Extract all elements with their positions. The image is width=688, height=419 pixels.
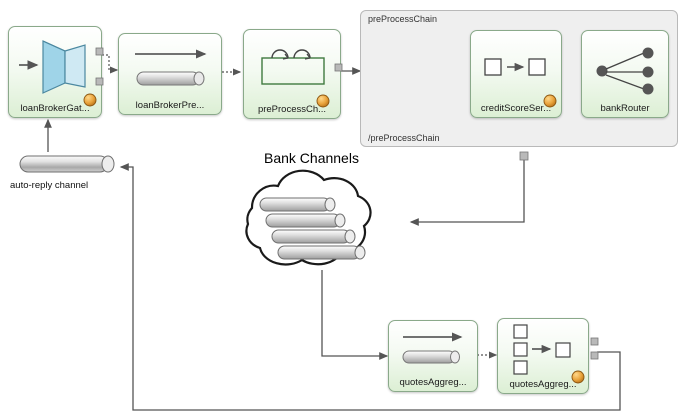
node-label: loanBrokerGat... xyxy=(9,103,101,114)
node-label: quotesAggreg... xyxy=(498,379,588,390)
node-autoreply-channel[interactable] xyxy=(16,152,120,176)
bank-channels-cloud[interactable] xyxy=(208,168,408,276)
node-quotesaggregator[interactable]: quotesAggreg... xyxy=(497,318,589,394)
diagram-canvas: preProcessChain /preProcessChain loanBro… xyxy=(0,0,688,419)
node-preprocesschain[interactable]: preProcessCh... xyxy=(243,29,341,119)
node-loanbrokergateway[interactable]: loanBrokerGat... xyxy=(8,26,102,118)
pipe-icon xyxy=(389,321,477,375)
aggregator-icon xyxy=(498,319,588,377)
node-label: loanBrokerPre... xyxy=(119,100,221,111)
node-label: bankRouter xyxy=(582,103,668,114)
node-loanbrokerpre[interactable]: loanBrokerPre... xyxy=(118,33,222,115)
pipe-icon xyxy=(119,34,221,98)
chain-label-top: preProcessChain xyxy=(368,14,437,24)
chain-label-bottom: /preProcessChain xyxy=(368,133,440,143)
node-label: quotesAggreg... xyxy=(389,377,477,388)
node-creditscoreservice[interactable]: creditScoreSer... xyxy=(470,30,562,118)
gateway-icon xyxy=(9,27,101,101)
bank-channels-title: Bank Channels xyxy=(264,150,359,166)
router-icon xyxy=(582,31,668,101)
transform-icon xyxy=(471,31,561,101)
chain-icon xyxy=(244,30,340,102)
node-label: preProcessCh... xyxy=(244,104,340,115)
autoreply-channel-label: auto-reply channel xyxy=(10,180,88,191)
node-bankrouter[interactable]: bankRouter xyxy=(581,30,669,118)
node-label: creditScoreSer... xyxy=(471,103,561,114)
node-quotesaggregator-pipe[interactable]: quotesAggreg... xyxy=(388,320,478,392)
